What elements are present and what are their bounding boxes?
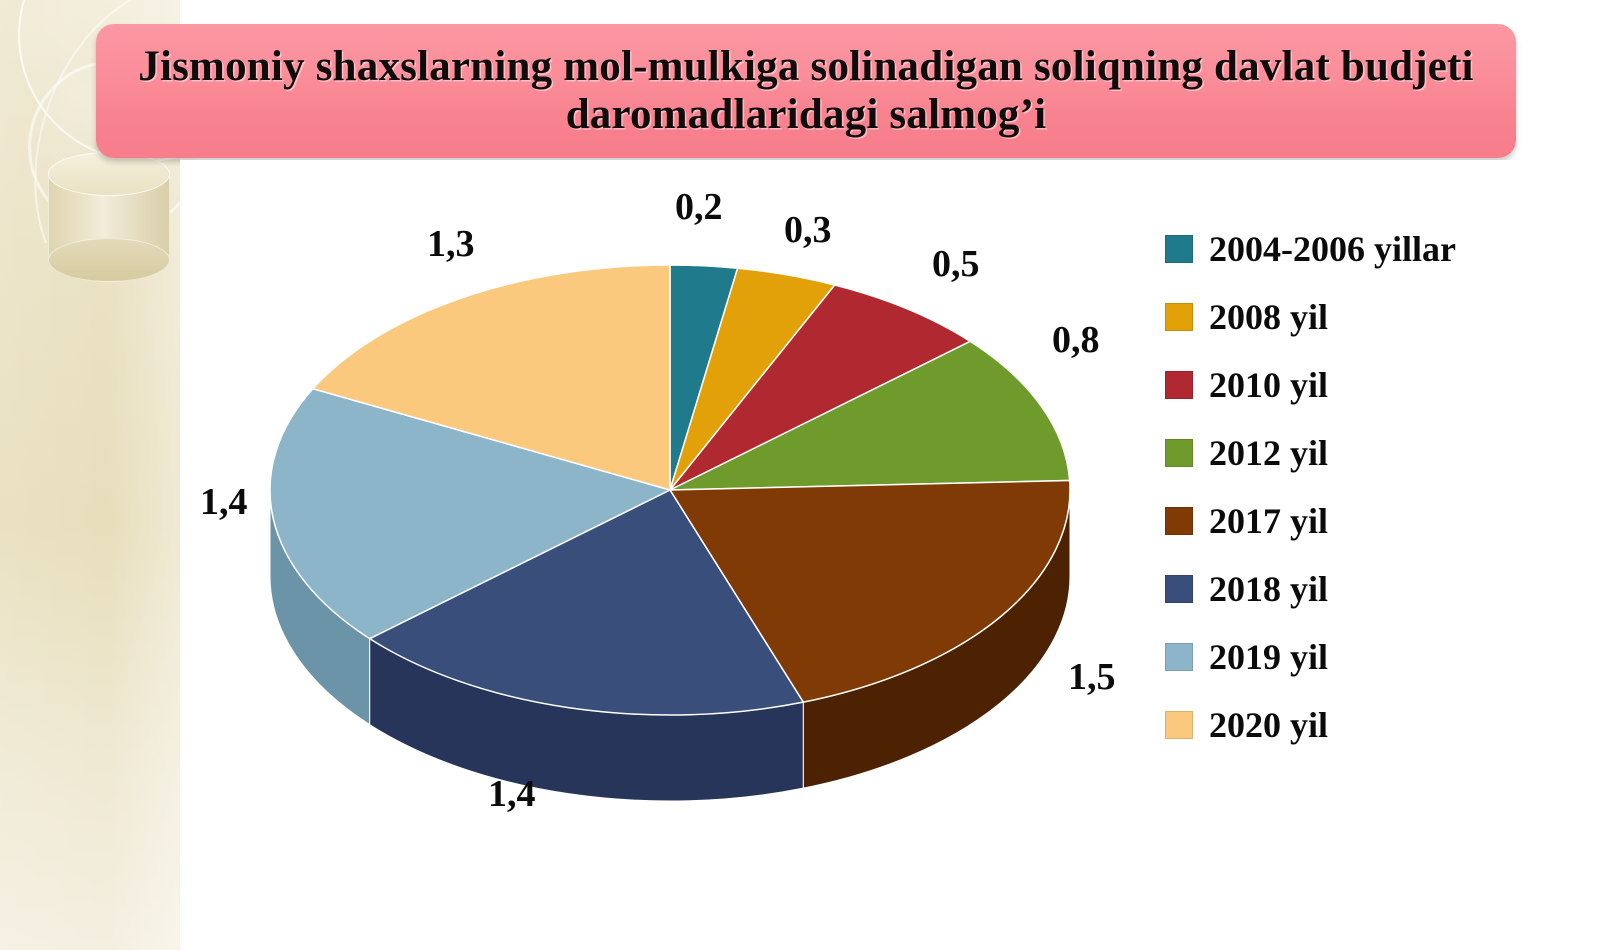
legend-swatch-icon (1165, 575, 1193, 603)
legend-swatch-icon (1165, 439, 1193, 467)
legend-swatch-icon (1165, 303, 1193, 331)
legend-swatch-icon (1165, 711, 1193, 739)
legend-item[interactable]: 2020 yil (1165, 691, 1575, 759)
legend-item-label: 2008 yil (1209, 296, 1328, 338)
legend-item-label: 2004-2006 yillar (1209, 228, 1456, 270)
data-label-2012: 0,8 (1052, 318, 1100, 362)
chart-area: 0,2 0,3 0,5 0,8 1,5 1,4 1,4 1,3 2004-200… (180, 160, 1600, 950)
legend-item[interactable]: 2019 yil (1165, 623, 1575, 691)
legend-swatch-icon (1165, 643, 1193, 671)
legend-item-label: 2019 yil (1209, 636, 1328, 678)
legend-item-label: 2010 yil (1209, 364, 1328, 406)
legend-item-label: 2017 yil (1209, 500, 1328, 542)
decorative-cylinder-bottom (48, 238, 170, 282)
slide-root: Jismoniy shaxslarning mol-mulkiga solina… (0, 0, 1600, 950)
data-label-2020: 1,3 (427, 222, 475, 266)
legend-item[interactable]: 2018 yil (1165, 555, 1575, 623)
data-label-2017: 1,5 (1068, 655, 1116, 699)
legend-item[interactable]: 2008 yil (1165, 283, 1575, 351)
legend-swatch-icon (1165, 235, 1193, 263)
legend-item-label: 2020 yil (1209, 704, 1328, 746)
data-label-2008: 0,3 (784, 208, 832, 252)
decorative-cylinder-top (48, 152, 170, 196)
legend-item[interactable]: 2017 yil (1165, 487, 1575, 555)
legend-item[interactable]: 2010 yil (1165, 351, 1575, 419)
decorative-cylinder (48, 152, 168, 284)
legend-item[interactable]: 2004-2006 yillar (1165, 215, 1575, 283)
data-label-2004-2006: 0,2 (675, 185, 723, 229)
data-label-2010: 0,5 (932, 242, 980, 286)
legend-item-label: 2018 yil (1209, 568, 1328, 610)
pie-chart (260, 240, 1080, 780)
title-banner: Jismoniy shaxslarning mol-mulkiga solina… (96, 24, 1516, 158)
page-title: Jismoniy shaxslarning mol-mulkiga solina… (122, 43, 1490, 139)
data-label-2018: 1,4 (488, 772, 536, 816)
legend-swatch-icon (1165, 371, 1193, 399)
data-label-2019: 1,4 (200, 480, 248, 524)
pie-top-faces (270, 265, 1070, 715)
legend-swatch-icon (1165, 507, 1193, 535)
legend-item-label: 2012 yil (1209, 432, 1328, 474)
chart-legend: 2004-2006 yillar2008 yil2010 yil2012 yil… (1165, 215, 1575, 759)
legend-item[interactable]: 2012 yil (1165, 419, 1575, 487)
pie-chart-svg (260, 240, 1080, 780)
